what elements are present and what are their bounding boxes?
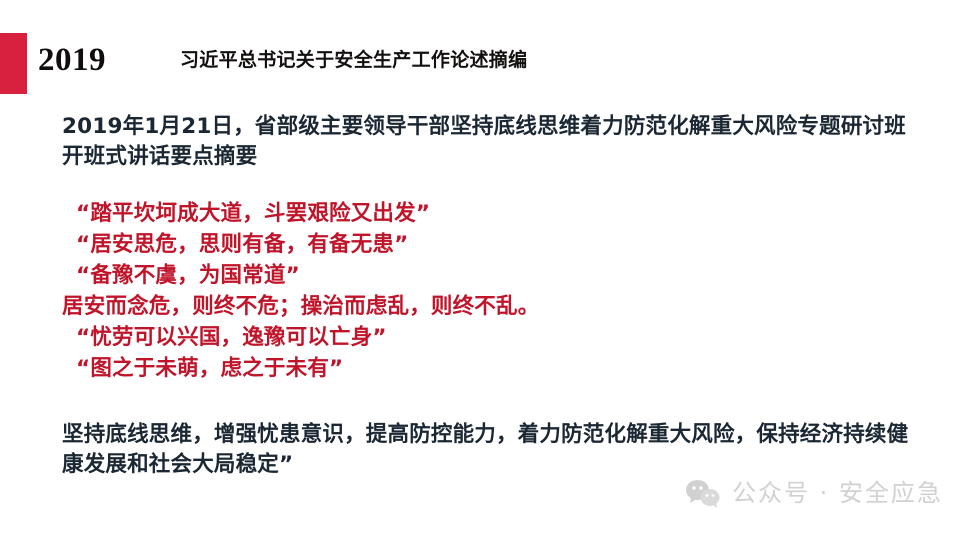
quote-line: “居安思危，思则有备，有备无患” [62, 229, 912, 260]
wechat-icon [686, 479, 720, 508]
quote-line: “图之于未萌，虑之于未有” [62, 353, 912, 384]
header-title: 习近平总书记关于安全生产工作论述摘编 [180, 47, 527, 73]
watermark: 公众号 · 安全应急 [686, 478, 943, 508]
quote-line: “踏平坎坷成大道，斗罢艰险又出发” [62, 198, 912, 229]
quote-line: 居安而念危，则终不危；操治而虑乱，则终不乱。 [62, 291, 912, 322]
watermark-text: 公众号 · 安全应急 [732, 478, 943, 508]
slide-header: 2019 习近平总书记关于安全生产工作论述摘编 [0, 33, 960, 95]
header-accent-bar [0, 33, 27, 94]
header-year: 2019 [38, 37, 106, 83]
quote-line: “备豫不虞，为国常道” [62, 260, 912, 291]
quote-line: “忧劳可以兴国，逸豫可以亡身” [62, 322, 912, 353]
closing-paragraph: 坚持底线思维，增强忧患意识，提高防控能力，着力防范化解重大风险，保持经济持续健康… [62, 420, 912, 480]
slide-canvas: 2019 习近平总书记关于安全生产工作论述摘编 2019年1月21日，省部级主要… [0, 0, 960, 540]
quote-list: “踏平坎坷成大道，斗罢艰险又出发” “居安思危，思则有备，有备无患” “备豫不虞… [62, 198, 912, 384]
lead-paragraph: 2019年1月21日，省部级主要领导干部坚持底线思维着力防范化解重大风险专题研讨… [62, 112, 912, 172]
slide-body: 2019年1月21日，省部级主要领导干部坚持底线思维着力防范化解重大风险专题研讨… [62, 112, 912, 480]
